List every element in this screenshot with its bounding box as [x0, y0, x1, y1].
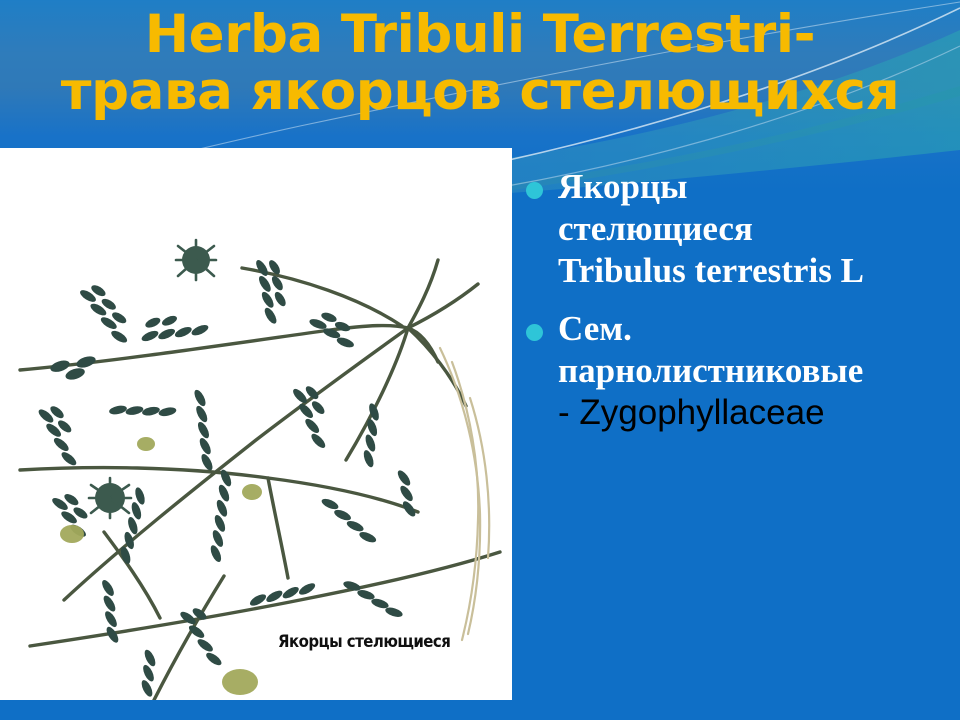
page-title: Herba Tribuli Terrestri- трава якорцов с… — [0, 6, 960, 120]
bullet-dot-icon — [526, 182, 543, 199]
bullet-text-2: Сем. парнолистниковые — [558, 308, 960, 392]
bullet-text-1: Якорцы стелющиеся Tribulus terrestris L — [558, 166, 960, 292]
flower-c — [242, 484, 262, 500]
slide: Herba Tribuli Terrestri- трава якорцов с… — [0, 0, 960, 720]
flower-b — [222, 669, 258, 695]
bullet-list: Якорцы стелющиеся Tribulus terrestris L … — [520, 166, 960, 450]
bullet-text-2-latin: - Zygophyllaceae — [558, 392, 960, 434]
bullet-dot-icon — [526, 324, 543, 341]
flower-a — [60, 525, 84, 543]
flower-d — [137, 437, 155, 451]
image-caption: Якорцы стелющиеся — [278, 632, 450, 652]
plant-image-panel: Якорцы стелющиеся — [0, 148, 512, 700]
tribulus-terrestris-illustration — [0, 148, 512, 700]
list-item[interactable]: Сем. парнолистниковые - Zygophyllaceae — [520, 308, 960, 434]
list-item[interactable]: Якорцы стелющиеся Tribulus terrestris L — [520, 166, 960, 292]
